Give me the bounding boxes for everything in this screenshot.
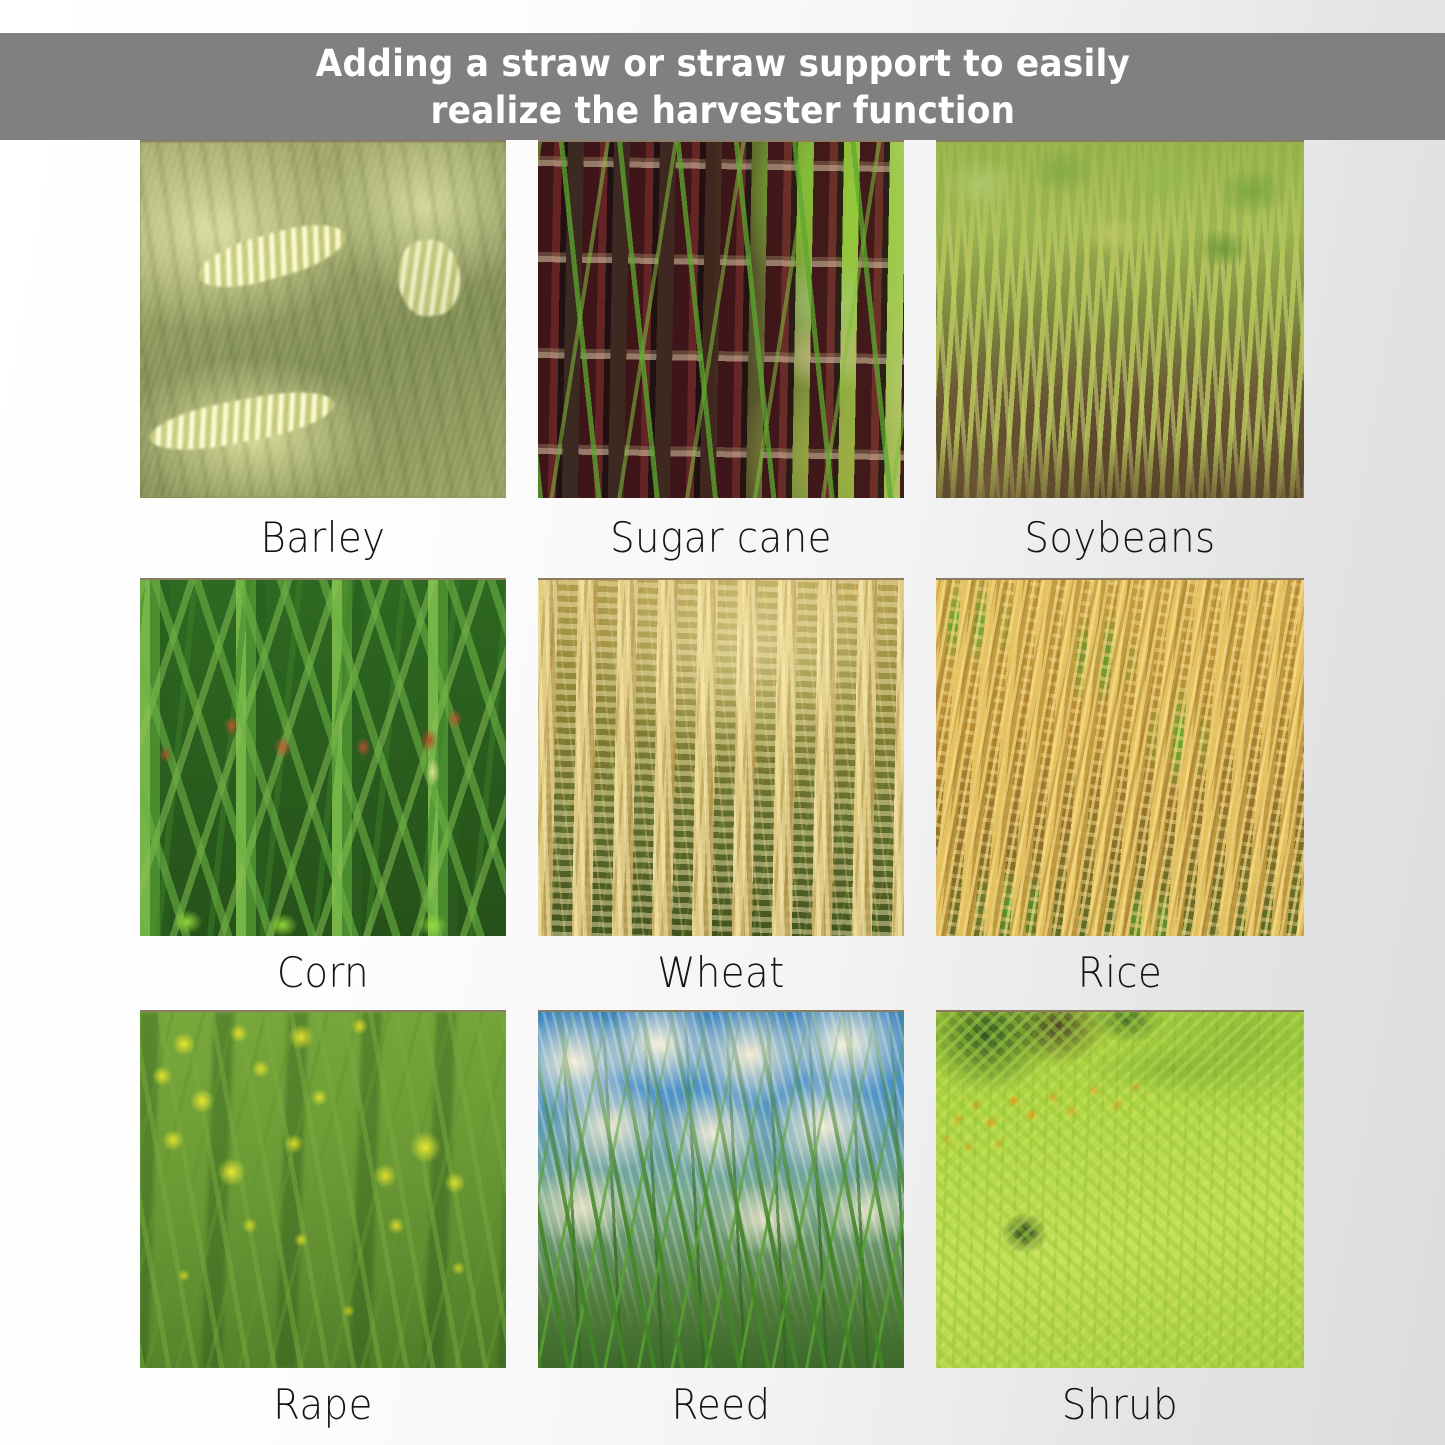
corn-field-photo [140,578,506,936]
soybean-plants-photo [936,140,1304,498]
crop-label-barley: Barley [155,498,492,578]
crop-label-rice: Rice [951,936,1290,1010]
crop-cell-shrub[interactable]: Shrub [936,1010,1304,1442]
crop-cell-sugar-cane[interactable]: Sugar cane [538,140,904,578]
crop-label-corn: Corn [155,936,492,1010]
crop-cell-barley[interactable]: Barley [140,140,506,578]
crop-label-shrub: Shrub [951,1368,1290,1442]
shrub-hedge-photo [936,1010,1304,1368]
infographic-page: Adding a straw or straw support to easil… [0,0,1445,1445]
crop-type-grid: Barley Sugar cane Soybeans [140,140,1306,1442]
barley-field-photo [140,140,506,498]
crop-cell-rape[interactable]: Rape [140,1010,506,1442]
crop-label-wheat: Wheat [553,936,890,1010]
sugar-cane-field-photo [538,140,904,498]
header-headline: Adding a straw or straw support to easil… [315,40,1129,134]
crop-label-sugar-cane: Sugar cane [553,498,890,578]
rice-paddy-photo [936,578,1304,936]
crop-label-rape: Rape [155,1368,492,1442]
wheat-field-photo [538,578,904,936]
crop-cell-corn[interactable]: Corn [140,578,506,1010]
crop-label-reed: Reed [553,1368,890,1442]
rapeseed-flowers-photo [140,1010,506,1368]
crop-label-soybeans: Soybeans [951,498,1290,578]
crop-cell-soybeans[interactable]: Soybeans [936,140,1304,578]
crop-cell-reed[interactable]: Reed [538,1010,904,1442]
crop-cell-wheat[interactable]: Wheat [538,578,904,1010]
crop-cell-rice[interactable]: Rice [936,578,1304,1010]
header-banner: Adding a straw or straw support to easil… [0,33,1445,140]
reed-plumes-photo [538,1010,904,1368]
